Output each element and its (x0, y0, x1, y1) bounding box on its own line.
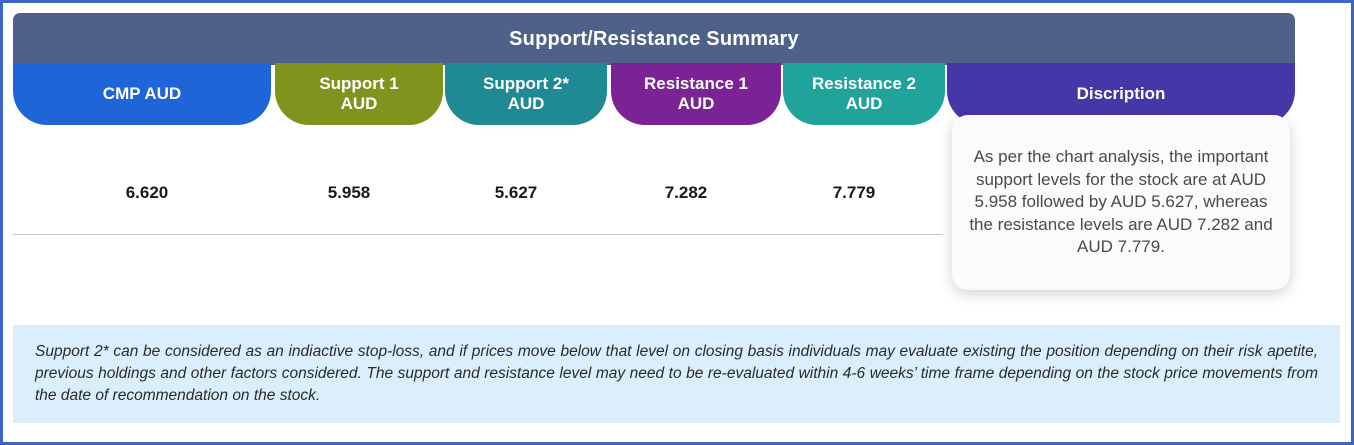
disclaimer-text: Support 2* can be considered as an india… (35, 341, 1318, 407)
value-cmp: 6.620 (53, 173, 241, 213)
column-header-support2[interactable]: Support 2*AUD (445, 63, 607, 125)
values-divider-rule (13, 234, 943, 235)
summary-header-bar: Support/Resistance Summary (13, 13, 1295, 65)
value-support1: 5.958 (265, 173, 433, 213)
value-resistance2: 7.779 (773, 173, 935, 213)
support-resistance-summary-panel: Support/Resistance Summary CMP AUDSuppor… (0, 0, 1354, 445)
value-support2: 5.627 (435, 173, 597, 213)
values-row: 6.6205.9585.6277.2827.779 (13, 173, 943, 231)
column-header-currency: AUD (846, 94, 883, 114)
description-text: As per the chart analysis, the important… (968, 146, 1274, 259)
column-header-currency: AUD (678, 94, 715, 114)
column-header-label: CMP AUD (103, 84, 181, 104)
column-header-label: Resistance 1 (644, 74, 748, 94)
column-header-currency: AUD (508, 94, 545, 114)
column-header-currency: AUD (341, 94, 378, 114)
column-header-label: Support 2* (483, 74, 569, 94)
summary-header-title: Support/Resistance Summary (509, 28, 799, 51)
column-header-cmp[interactable]: CMP AUD (13, 63, 271, 125)
column-header-resistance1[interactable]: Resistance 1AUD (611, 63, 781, 125)
column-header-label: Discription (1077, 84, 1166, 104)
description-card: As per the chart analysis, the important… (952, 115, 1290, 290)
disclaimer-box: Support 2* can be considered as an india… (13, 325, 1340, 423)
column-header-label: Resistance 2 (812, 74, 916, 94)
column-header-resistance2[interactable]: Resistance 2AUD (783, 63, 945, 125)
column-header-label: Support 1 (319, 74, 398, 94)
value-resistance1: 7.282 (601, 173, 771, 213)
column-header-support1[interactable]: Support 1AUD (275, 63, 443, 125)
